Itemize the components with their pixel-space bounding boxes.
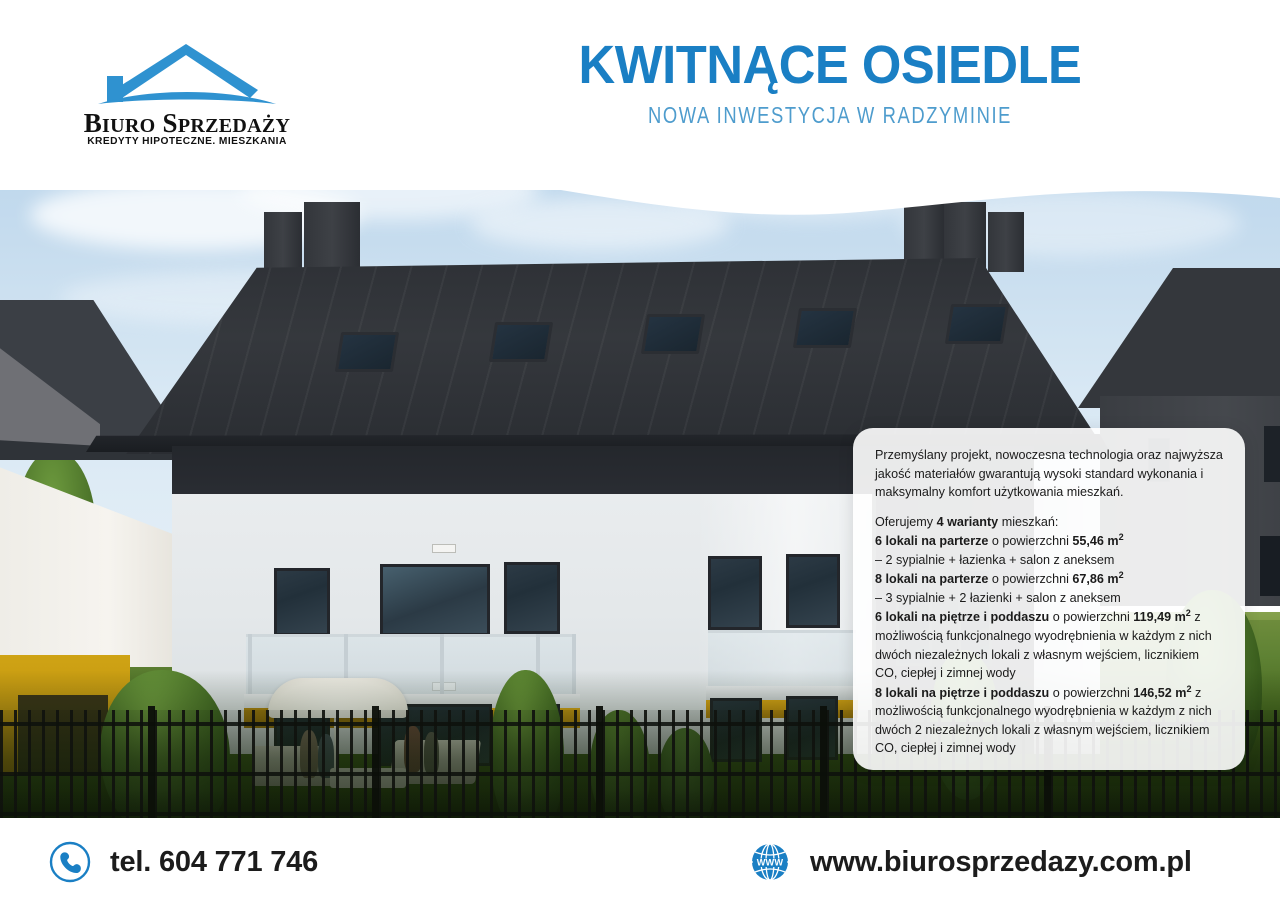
- website-label: www.biurosprzedazy.com.pl: [810, 846, 1192, 879]
- skylight-window: [793, 308, 857, 348]
- window: [274, 568, 330, 636]
- variant-area-prefix: o powierzchni: [988, 534, 1072, 548]
- phone-icon: [48, 840, 92, 884]
- window: [504, 562, 560, 634]
- skylight-window: [945, 304, 1009, 344]
- skylight-window: [489, 322, 553, 362]
- variant-row: 8 lokali na parterze o powierzchni 67,86…: [875, 569, 1223, 589]
- window: [1264, 426, 1280, 482]
- variant-area-prefix: o powierzchni: [988, 572, 1072, 586]
- chimney: [304, 202, 360, 268]
- skylight-window: [335, 332, 399, 372]
- page-subtitle: NOWA INWESTYCJA W RADZYMINIE: [510, 102, 1150, 129]
- variant-area: 146,52 m: [1133, 686, 1186, 700]
- intro-paragraph: Przemyślany projekt, nowoczesna technolo…: [875, 446, 1223, 502]
- window: [380, 564, 490, 636]
- advertisement-page: BIURO SPRZEDAŻY KREDYTY HIPOTECZNE. MIES…: [0, 0, 1280, 905]
- variant-area: 55,46 m: [1072, 534, 1118, 548]
- skylight-window: [641, 314, 705, 354]
- offer-info-card: Przemyślany projekt, nowoczesna technolo…: [853, 428, 1245, 770]
- window: [708, 556, 762, 630]
- roof: [1078, 268, 1280, 408]
- variant-row: 6 lokali na parterze o powierzchni 55,46…: [875, 531, 1223, 551]
- offer-suffix: mieszkań:: [998, 515, 1058, 529]
- page-title: KWITNĄCE OSIEDLE: [454, 38, 1206, 93]
- variant-title: 8 lokali na parterze: [875, 572, 988, 586]
- variant-title: 6 lokali na parterze: [875, 534, 988, 548]
- contact-website[interactable]: WWW www.biurosprzedazy.com.pl: [748, 840, 1192, 884]
- variant-area-unit-sup: 2: [1119, 570, 1124, 580]
- variant-area-prefix: o powierzchni: [1049, 611, 1133, 625]
- variant-detail: – 3 sypialnie + 2 łazienki + salon z ane…: [875, 589, 1223, 608]
- company-logo[interactable]: BIURO SPRZEDAŻY KREDYTY HIPOTECZNE. MIES…: [62, 28, 312, 146]
- contact-phone[interactable]: tel. 604 771 746: [48, 840, 318, 884]
- variant-detail: – 2 sypialnie + łazienka + salon z aneks…: [875, 551, 1223, 570]
- photo-bottom-fade: [0, 790, 1280, 818]
- variant-title: 6 lokali na piętrze i poddaszu: [875, 611, 1049, 625]
- variant-title: 8 lokali na piętrze i poddaszu: [875, 686, 1049, 700]
- variant-row: 6 lokali na piętrze i poddaszu o powierz…: [875, 607, 1223, 682]
- footer: tel. 604 771 746 WWW www.biurosp: [0, 818, 1280, 905]
- variant-area: 67,86 m: [1072, 572, 1118, 586]
- wall-lamp: [432, 544, 456, 553]
- header: BIURO SPRZEDAŻY KREDYTY HIPOTECZNE. MIES…: [0, 0, 1280, 190]
- roof: [96, 258, 1100, 454]
- svg-text:BIURO SPRZEDAŻY: BIURO SPRZEDAŻY: [84, 108, 291, 138]
- variant-area: 119,49 m: [1133, 611, 1186, 625]
- window: [786, 554, 840, 628]
- offer-prefix: Oferujemy: [875, 515, 937, 529]
- svg-text:KREDYTY HIPOTECZNE. MIESZKANIA: KREDYTY HIPOTECZNE. MIESZKANIA: [87, 136, 287, 146]
- variant-area-unit-sup: 2: [1119, 532, 1124, 542]
- globe-www-icon: WWW: [748, 840, 792, 884]
- variant-row: 8 lokali na piętrze i poddaszu o powierz…: [875, 683, 1223, 758]
- title-block: KWITNĄCE OSIEDLE NOWA INWESTYCJA W RADZY…: [430, 38, 1230, 129]
- phone-label: tel. 604 771 746: [110, 846, 318, 879]
- variant-area-prefix: o powierzchni: [1049, 686, 1133, 700]
- svg-text:WWW: WWW: [757, 858, 784, 868]
- offer-heading: Oferujemy 4 warianty mieszkań:: [875, 513, 1223, 532]
- offer-variants-count: 4 warianty: [937, 515, 999, 529]
- chimney: [988, 212, 1024, 272]
- window: [1260, 536, 1280, 596]
- house-roof-icon: [98, 44, 276, 104]
- fence-rail: [0, 772, 1280, 776]
